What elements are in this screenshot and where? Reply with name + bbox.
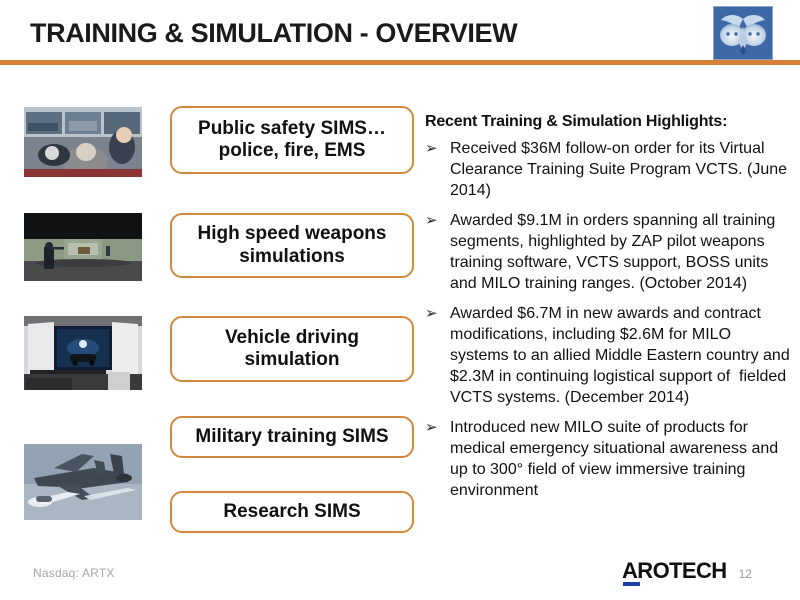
- callout-label: High speed weapons simulations: [182, 223, 402, 268]
- list-item-text: Received $36M follow-on order for its Vi…: [450, 138, 790, 201]
- callout-label: Vehicle driving simulation: [182, 327, 402, 372]
- callout-military-training-sims[interactable]: Military training SIMS: [170, 416, 414, 458]
- callout-label: Military training SIMS: [195, 426, 388, 448]
- page-title: TRAINING & SIMULATION - OVERVIEW: [30, 18, 517, 49]
- list-item-text: Awarded $9.1M in orders spanning all tra…: [450, 210, 790, 294]
- list-item-text: Awarded $6.7M in new awards and contract…: [450, 303, 790, 408]
- arrow-bullet-icon: ➢: [425, 210, 450, 231]
- callout-vehicle-driving[interactable]: Vehicle driving simulation: [170, 316, 414, 382]
- list-item: ➢ Received $36M follow-on order for its …: [425, 138, 790, 201]
- vehicle-driving-dome-simulator-photo: [24, 316, 142, 390]
- nasdaq-ticker: Nasdaq: ARTX: [33, 566, 115, 580]
- public-safety-driving-simulator-photo: [24, 107, 142, 177]
- footer-brand: AROTECH 12: [622, 560, 752, 582]
- highlights-panel: Recent Training & Simulation Highlights:…: [425, 113, 790, 510]
- callout-label: Public safety SIMS… police, fire, EMS: [182, 118, 402, 163]
- arotech-accent-underline: [623, 582, 640, 586]
- list-item: ➢ Introduced new MILO suite of products …: [425, 417, 790, 501]
- arrow-bullet-icon: ➢: [425, 303, 450, 324]
- weapons-firing-range-simulator-photo: [24, 213, 142, 281]
- military-fighter-jet-missile-photo: [24, 444, 142, 520]
- arotech-wordmark: AROTECH: [622, 560, 727, 582]
- arotech-eagle-logo: [713, 6, 773, 60]
- list-item-text: Introduced new MILO suite of products fo…: [450, 417, 790, 501]
- page-number: 12: [739, 568, 752, 582]
- list-item: ➢ Awarded $6.7M in new awards and contra…: [425, 303, 790, 408]
- header-accent-rule: [0, 60, 800, 65]
- callout-research-sims[interactable]: Research SIMS: [170, 491, 414, 533]
- slide-header: TRAINING & SIMULATION - OVERVIEW: [0, 0, 800, 64]
- arotech-wordmark-text: AROTECH: [622, 558, 727, 583]
- callout-public-safety-sims[interactable]: Public safety SIMS… police, fire, EMS: [170, 106, 414, 174]
- arrow-bullet-icon: ➢: [425, 138, 450, 159]
- callout-high-speed-weapons[interactable]: High speed weapons simulations: [170, 213, 414, 278]
- callout-label: Research SIMS: [223, 501, 360, 523]
- list-item: ➢ Awarded $9.1M in orders spanning all t…: [425, 210, 790, 294]
- arrow-bullet-icon: ➢: [425, 417, 450, 438]
- highlights-heading: Recent Training & Simulation Highlights:: [425, 113, 790, 131]
